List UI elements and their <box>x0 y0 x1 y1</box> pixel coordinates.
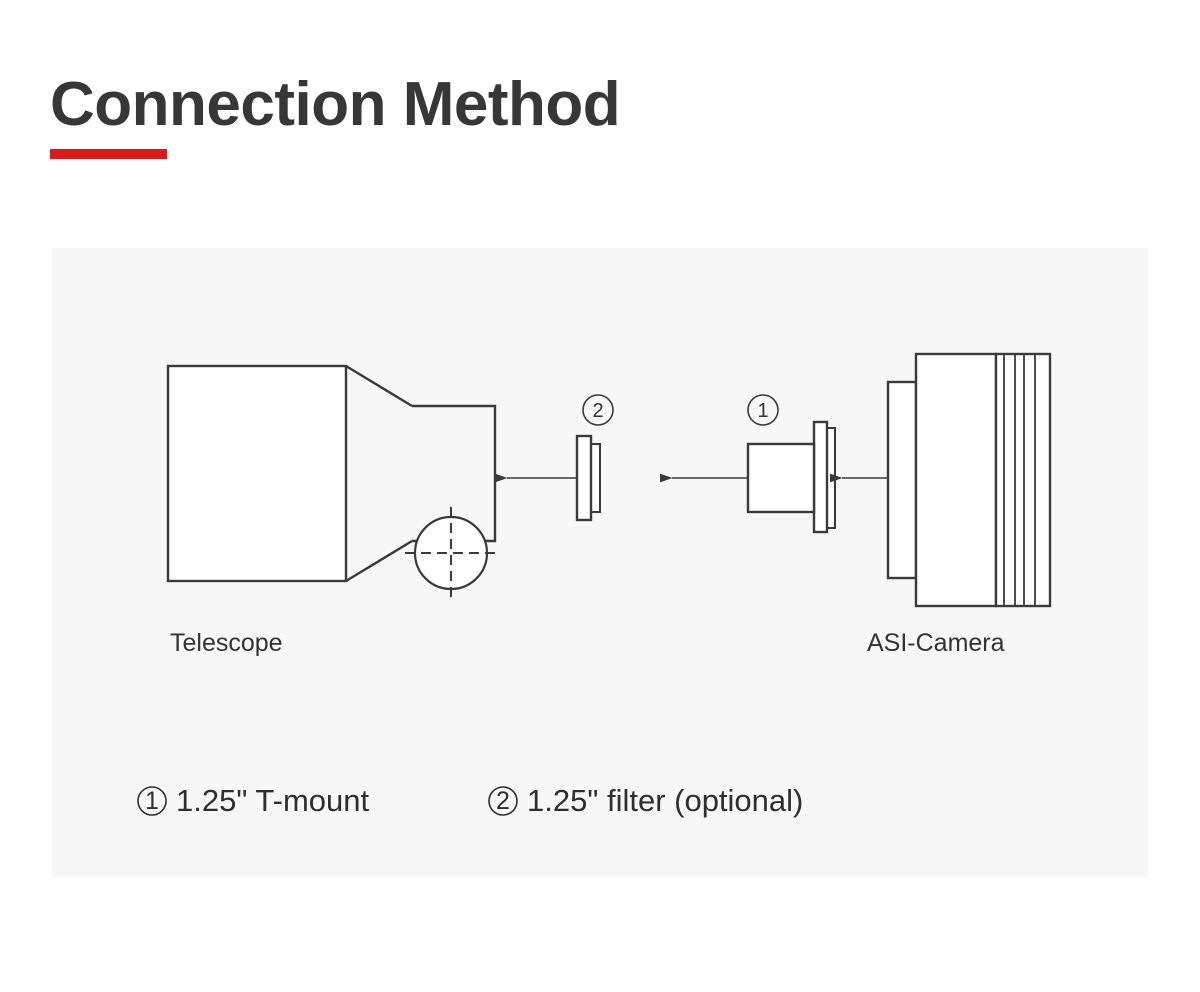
connection-diagram: Telescope 2 <box>52 248 1148 877</box>
telescope-taper-bottom <box>346 541 412 581</box>
page-title: Connection Method <box>50 72 950 137</box>
telescope-taper-top <box>346 366 412 406</box>
legend-label-2: 1.25" filter (optional) <box>527 783 803 818</box>
telescope-body <box>168 366 346 581</box>
filter-part: 2 <box>577 395 613 520</box>
diagram-panel: Telescope 2 <box>52 248 1148 877</box>
legend-label-1: 1.25" T-mount <box>176 783 369 818</box>
legend-marker-number-2: 2 <box>496 787 510 815</box>
title-accent-rule <box>50 149 167 159</box>
camera-front-plate <box>888 382 916 578</box>
asi-camera-part: ASI-Camera <box>867 354 1050 657</box>
title-block: Connection Method <box>50 72 950 159</box>
tmount-barrel <box>748 444 814 512</box>
tmount-part: 1 <box>748 395 835 532</box>
legend-item-tmount: 1 1.25" T-mount <box>138 783 369 818</box>
legend-item-filter: 2 1.25" filter (optional) <box>489 783 803 818</box>
tmount-flange-front <box>814 422 827 532</box>
telescope-part: Telescope <box>168 366 497 657</box>
asi-camera-label: ASI-Camera <box>867 629 1005 657</box>
filter-front-plate <box>577 436 591 520</box>
filter-marker-number: 2 <box>592 400 603 422</box>
legend: 1 1.25" T-mount 2 1.25" filter (optional… <box>138 783 803 818</box>
telescope-label: Telescope <box>170 629 283 657</box>
camera-body <box>916 354 996 606</box>
tmount-marker-number: 1 <box>757 400 768 422</box>
legend-marker-number-1: 1 <box>145 787 159 815</box>
page-root: Connection Method <box>0 0 1200 992</box>
